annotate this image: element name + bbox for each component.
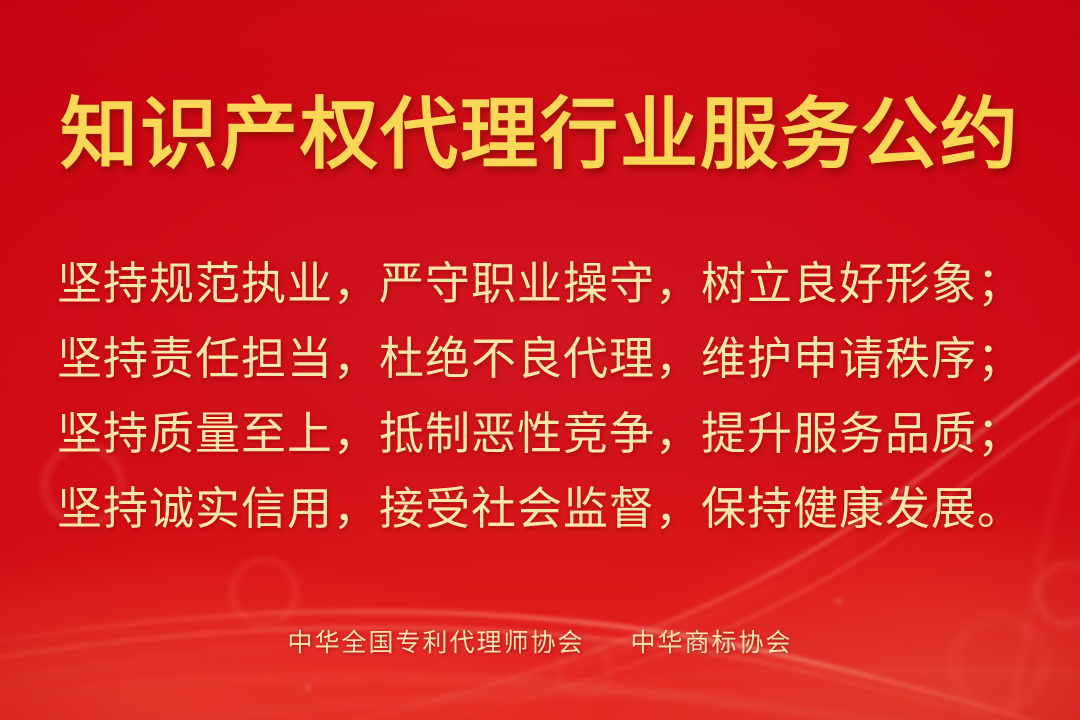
- organization-name-trademark-association: 中华商标协会: [630, 629, 792, 657]
- pledge-clause-4: 坚持诚实信用，接受社会监督，保持健康发展。: [0, 471, 1080, 546]
- pledge-clause-1: 坚持规范执业，严守职业操守，树立良好形象；: [0, 246, 1080, 321]
- page-title: 知识产权代理行业服务公约: [0, 86, 1080, 182]
- issuing-organizations: 中华全国专利代理师协会 中华商标协会: [0, 626, 1080, 660]
- poster-content: 知识产权代理行业服务公约 坚持规范执业，严守职业操守，树立良好形象； 坚持责任担…: [0, 0, 1080, 720]
- poster-canvas: 知识产权代理行业服务公约 坚持规范执业，严守职业操守，树立良好形象； 坚持责任担…: [0, 0, 1080, 720]
- pledge-clause-2: 坚持责任担当，杜绝不良代理，维护申请秩序；: [0, 321, 1080, 396]
- pledge-clause-3: 坚持质量至上，抵制恶性竞争，提升服务品质；: [0, 396, 1080, 471]
- pledge-clause-list: 坚持规范执业，严守职业操守，树立良好形象； 坚持责任担当，杜绝不良代理，维护申请…: [0, 246, 1080, 546]
- organization-name-patent-attorneys: 中华全国专利代理师协会: [288, 629, 585, 657]
